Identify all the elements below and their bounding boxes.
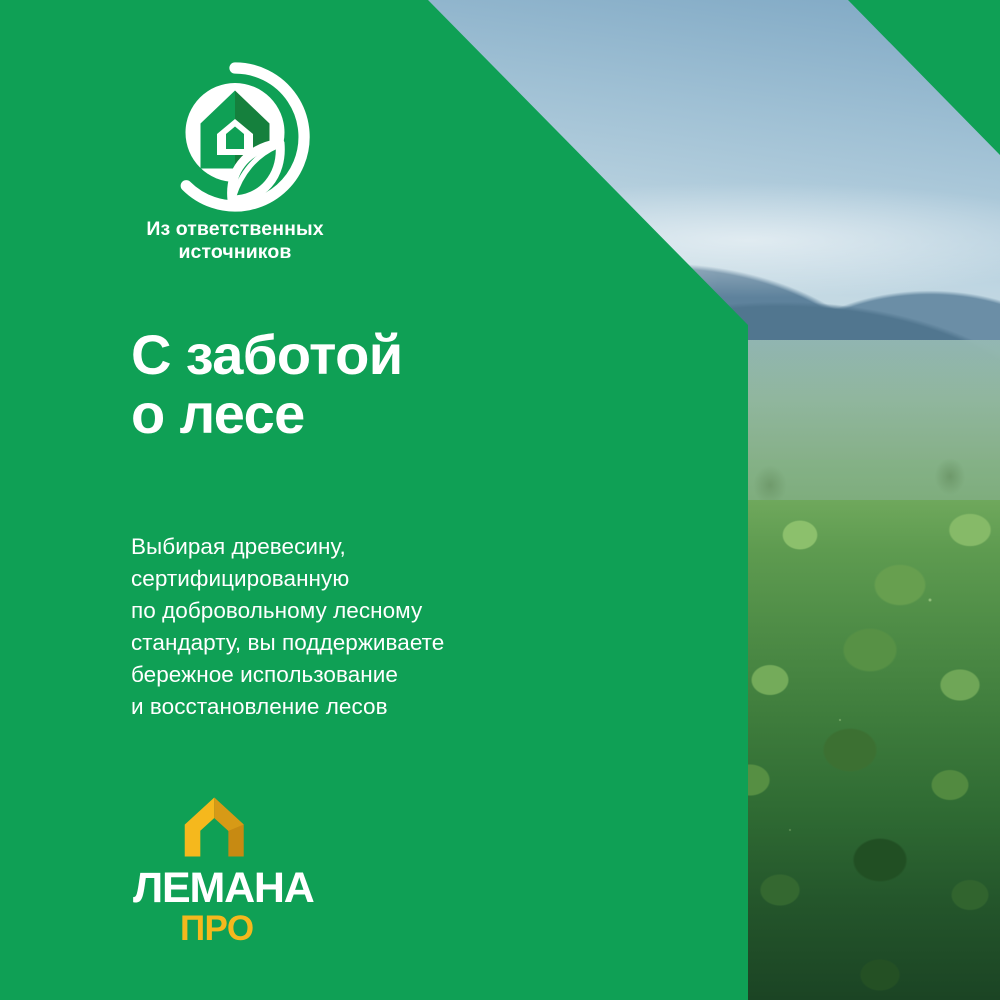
lemana-pro-logo: ЛЕМАНА ПРО [133, 795, 313, 946]
certification-badge: Из ответственных источников [130, 62, 340, 264]
body-paragraph: Выбирая древесину, сертифицированную по … [131, 531, 444, 723]
poster-canvas: Из ответственных источников С заботой о … [0, 0, 1000, 1000]
certification-caption: Из ответственных источников [130, 218, 340, 264]
lemana-brand-suffix: ПРО [180, 911, 313, 946]
page-title: С заботой о лесе [131, 326, 403, 444]
lemana-house-icon [181, 795, 245, 859]
poster-content: Из ответственных источников С заботой о … [0, 0, 1000, 1000]
responsible-sources-emblem-icon [160, 62, 310, 212]
lemana-brand-name: ЛЕМАНА [133, 867, 313, 909]
